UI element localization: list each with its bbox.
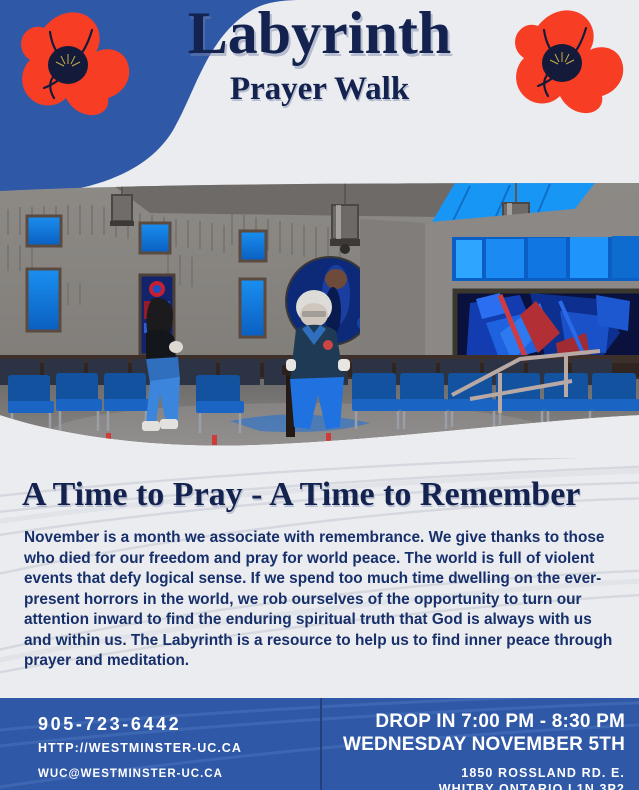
footer-contact-block: 905-723-6442 HTTP://WESTMINSTER-UC.CA WU… — [0, 698, 320, 790]
email-link[interactable]: WUC@WESTMINSTER-UC.CA — [38, 768, 320, 780]
poppy-flower-left-icon — [6, 2, 136, 122]
poster: Labyrinth Prayer Walk — [0, 0, 639, 790]
main-content: A Time to Pray - A Time to Remember Nove… — [0, 458, 639, 698]
address-line-2: WHITBY ONTARIO L1N 3P2 — [322, 781, 625, 790]
sanctuary-photo-image — [0, 183, 639, 458]
footer-event-block: DROP IN 7:00 PM - 8:30 PM WEDNESDAY NOVE… — [322, 698, 639, 790]
sanctuary-photo — [0, 183, 639, 458]
body-paragraph: November is a month we associate with re… — [24, 528, 618, 672]
section-heading: A Time to Pray - A Time to Remember — [22, 476, 622, 514]
poster-header: Labyrinth Prayer Walk — [0, 0, 639, 200]
poppy-flower-right-icon — [500, 0, 630, 120]
phone-number[interactable]: 905-723-6442 — [38, 714, 320, 735]
event-time: DROP IN 7:00 PM - 8:30 PM — [322, 710, 625, 733]
website-link[interactable]: HTTP://WESTMINSTER-UC.CA — [38, 741, 320, 755]
poster-footer: 905-723-6442 HTTP://WESTMINSTER-UC.CA WU… — [0, 698, 639, 790]
event-date: WEDNESDAY NOVEMBER 5TH — [322, 733, 625, 756]
address-line-1: 1850 ROSSLAND RD. E. — [322, 765, 625, 781]
